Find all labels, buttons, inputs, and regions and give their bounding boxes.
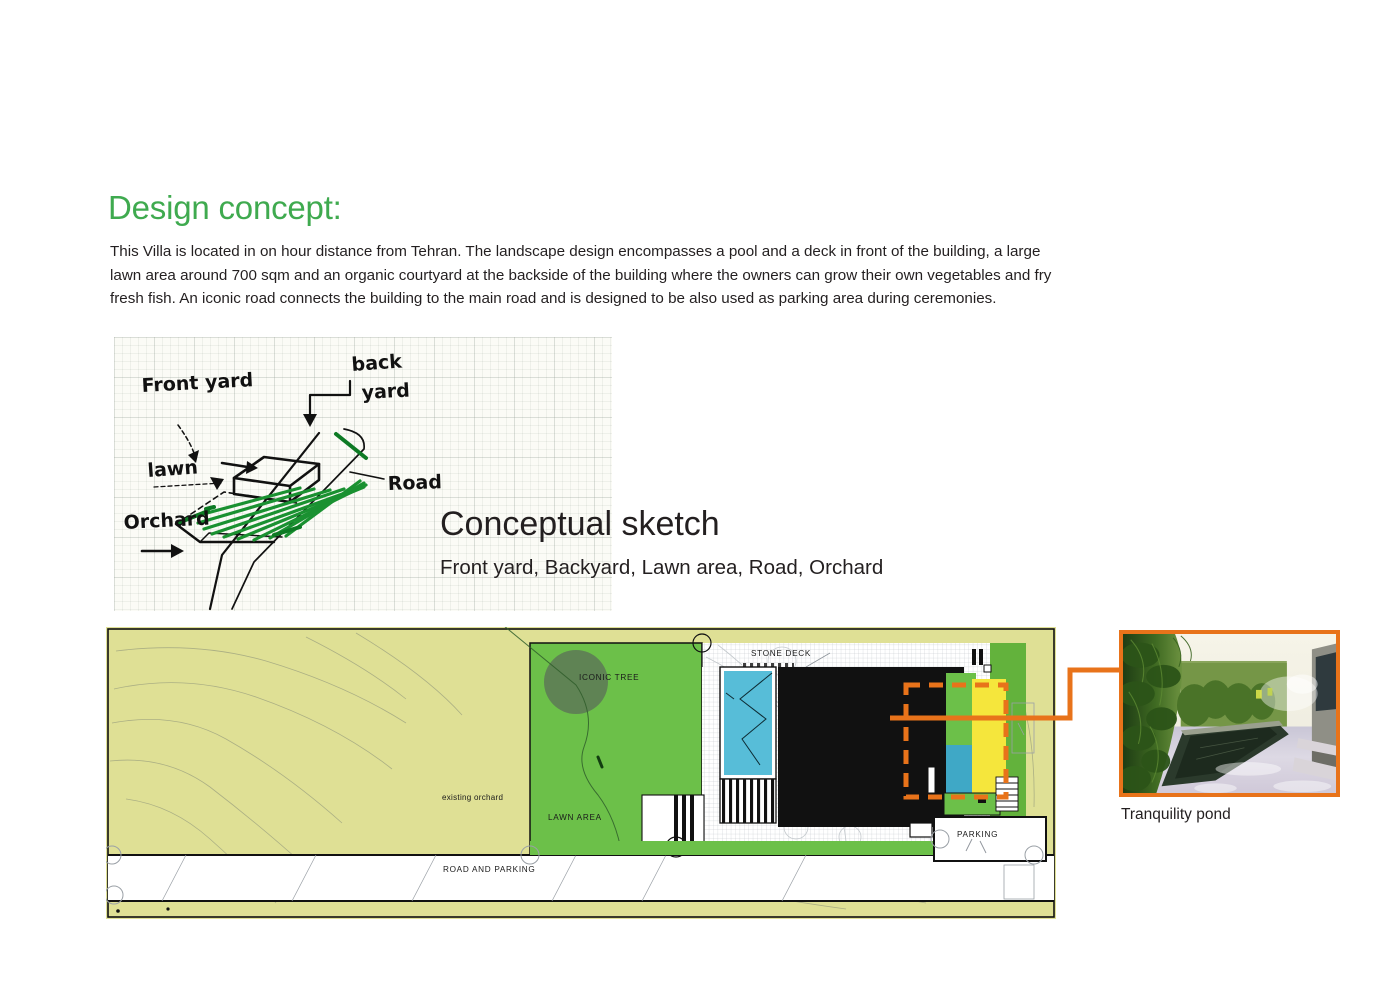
plan-label-lawn-area: LAWN AREA (548, 813, 602, 822)
plan-label-stone-deck: STONE DECK (751, 649, 811, 658)
site-plan-drawing: existing orchard ICONIC TREE LAWN AREA S… (106, 627, 1056, 919)
sketch-caption-title: Conceptual sketch (440, 505, 720, 544)
pond-photo-image (1123, 634, 1336, 795)
page-title: Design concept: (108, 189, 342, 227)
intro-paragraph: This Villa is located in on hour distanc… (110, 240, 1055, 311)
site-plan-svg (106, 627, 1056, 919)
sketch-label-lawn: lawn (147, 457, 199, 482)
sketch-label-road: Road (387, 471, 442, 495)
sketch-label-orchard: Orchard (123, 508, 210, 534)
sketch-label-back-yard-line2: yard (361, 380, 410, 404)
plan-label-existing-orchard: existing orchard (442, 793, 503, 802)
plan-label-road-and-parking: ROAD AND PARKING (443, 865, 535, 874)
pond-photo-caption: Tranquility pond (1121, 806, 1231, 824)
sketch-label-front-yard: Front yard (141, 369, 254, 397)
plan-label-iconic-tree: ICONIC TREE (579, 673, 639, 682)
plan-label-parking: PARKING (957, 830, 998, 839)
sketch-caption-subtitle: Front yard, Backyard, Lawn area, Road, O… (440, 556, 883, 580)
tranquility-pond-photo (1119, 630, 1340, 797)
sketch-label-back-yard-line1: back (351, 351, 403, 376)
